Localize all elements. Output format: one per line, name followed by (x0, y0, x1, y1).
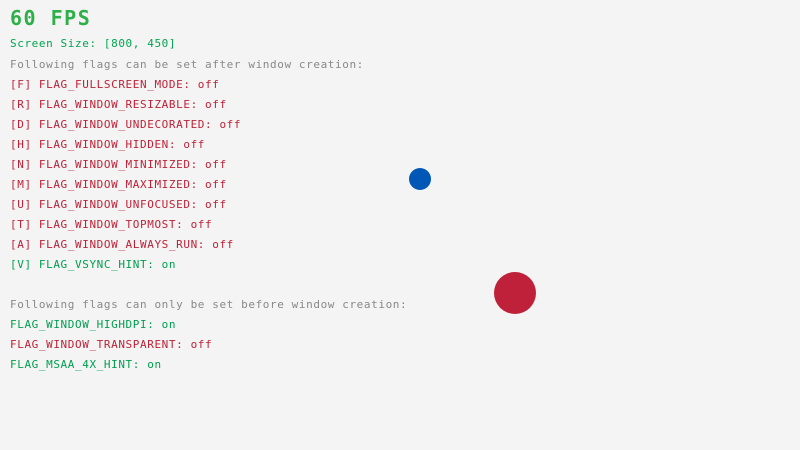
flag-row-flag-msaa-4x-hint[interactable]: FLAG_MSAA_4X_HINT: on (10, 359, 162, 370)
flag-row-flag-fullscreen-mode[interactable]: [F] FLAG_FULLSCREEN_MODE: off (10, 79, 219, 90)
flag-row-flag-window-resizable[interactable]: [R] FLAG_WINDOW_RESIZABLE: off (10, 99, 227, 110)
red-ball-shape (494, 272, 536, 314)
flag-row-flag-window-minimized[interactable]: [N] FLAG_WINDOW_MINIMIZED: off (10, 159, 227, 170)
section-heading-creation-flags: Following flags can only be set before w… (10, 299, 407, 310)
blue-ball-shape (409, 168, 431, 190)
flag-row-flag-window-transparent[interactable]: FLAG_WINDOW_TRANSPARENT: off (10, 339, 212, 350)
flag-row-flag-window-topmost[interactable]: [T] FLAG_WINDOW_TOPMOST: off (10, 219, 212, 230)
fps-counter: 60 FPS (10, 8, 91, 28)
screen-size-readout: Screen Size: [800, 450] (10, 38, 176, 49)
flag-row-flag-vsync-hint[interactable]: [V] FLAG_VSYNC_HINT: on (10, 259, 176, 270)
flag-row-flag-window-maximized[interactable]: [M] FLAG_WINDOW_MAXIMIZED: off (10, 179, 227, 190)
app-window: 60 FPS Screen Size: [800, 450] Following… (0, 0, 800, 450)
flag-row-flag-window-unfocused[interactable]: [U] FLAG_WINDOW_UNFOCUSED: off (10, 199, 227, 210)
flag-row-flag-window-highdpi[interactable]: FLAG_WINDOW_HIGHDPI: on (10, 319, 176, 330)
flag-row-flag-window-hidden[interactable]: [H] FLAG_WINDOW_HIDDEN: off (10, 139, 205, 150)
section-heading-runtime-flags: Following flags can be set after window … (10, 59, 364, 70)
flag-row-flag-window-always-run[interactable]: [A] FLAG_WINDOW_ALWAYS_RUN: off (10, 239, 234, 250)
flag-row-flag-window-undecorated[interactable]: [D] FLAG_WINDOW_UNDECORATED: off (10, 119, 241, 130)
